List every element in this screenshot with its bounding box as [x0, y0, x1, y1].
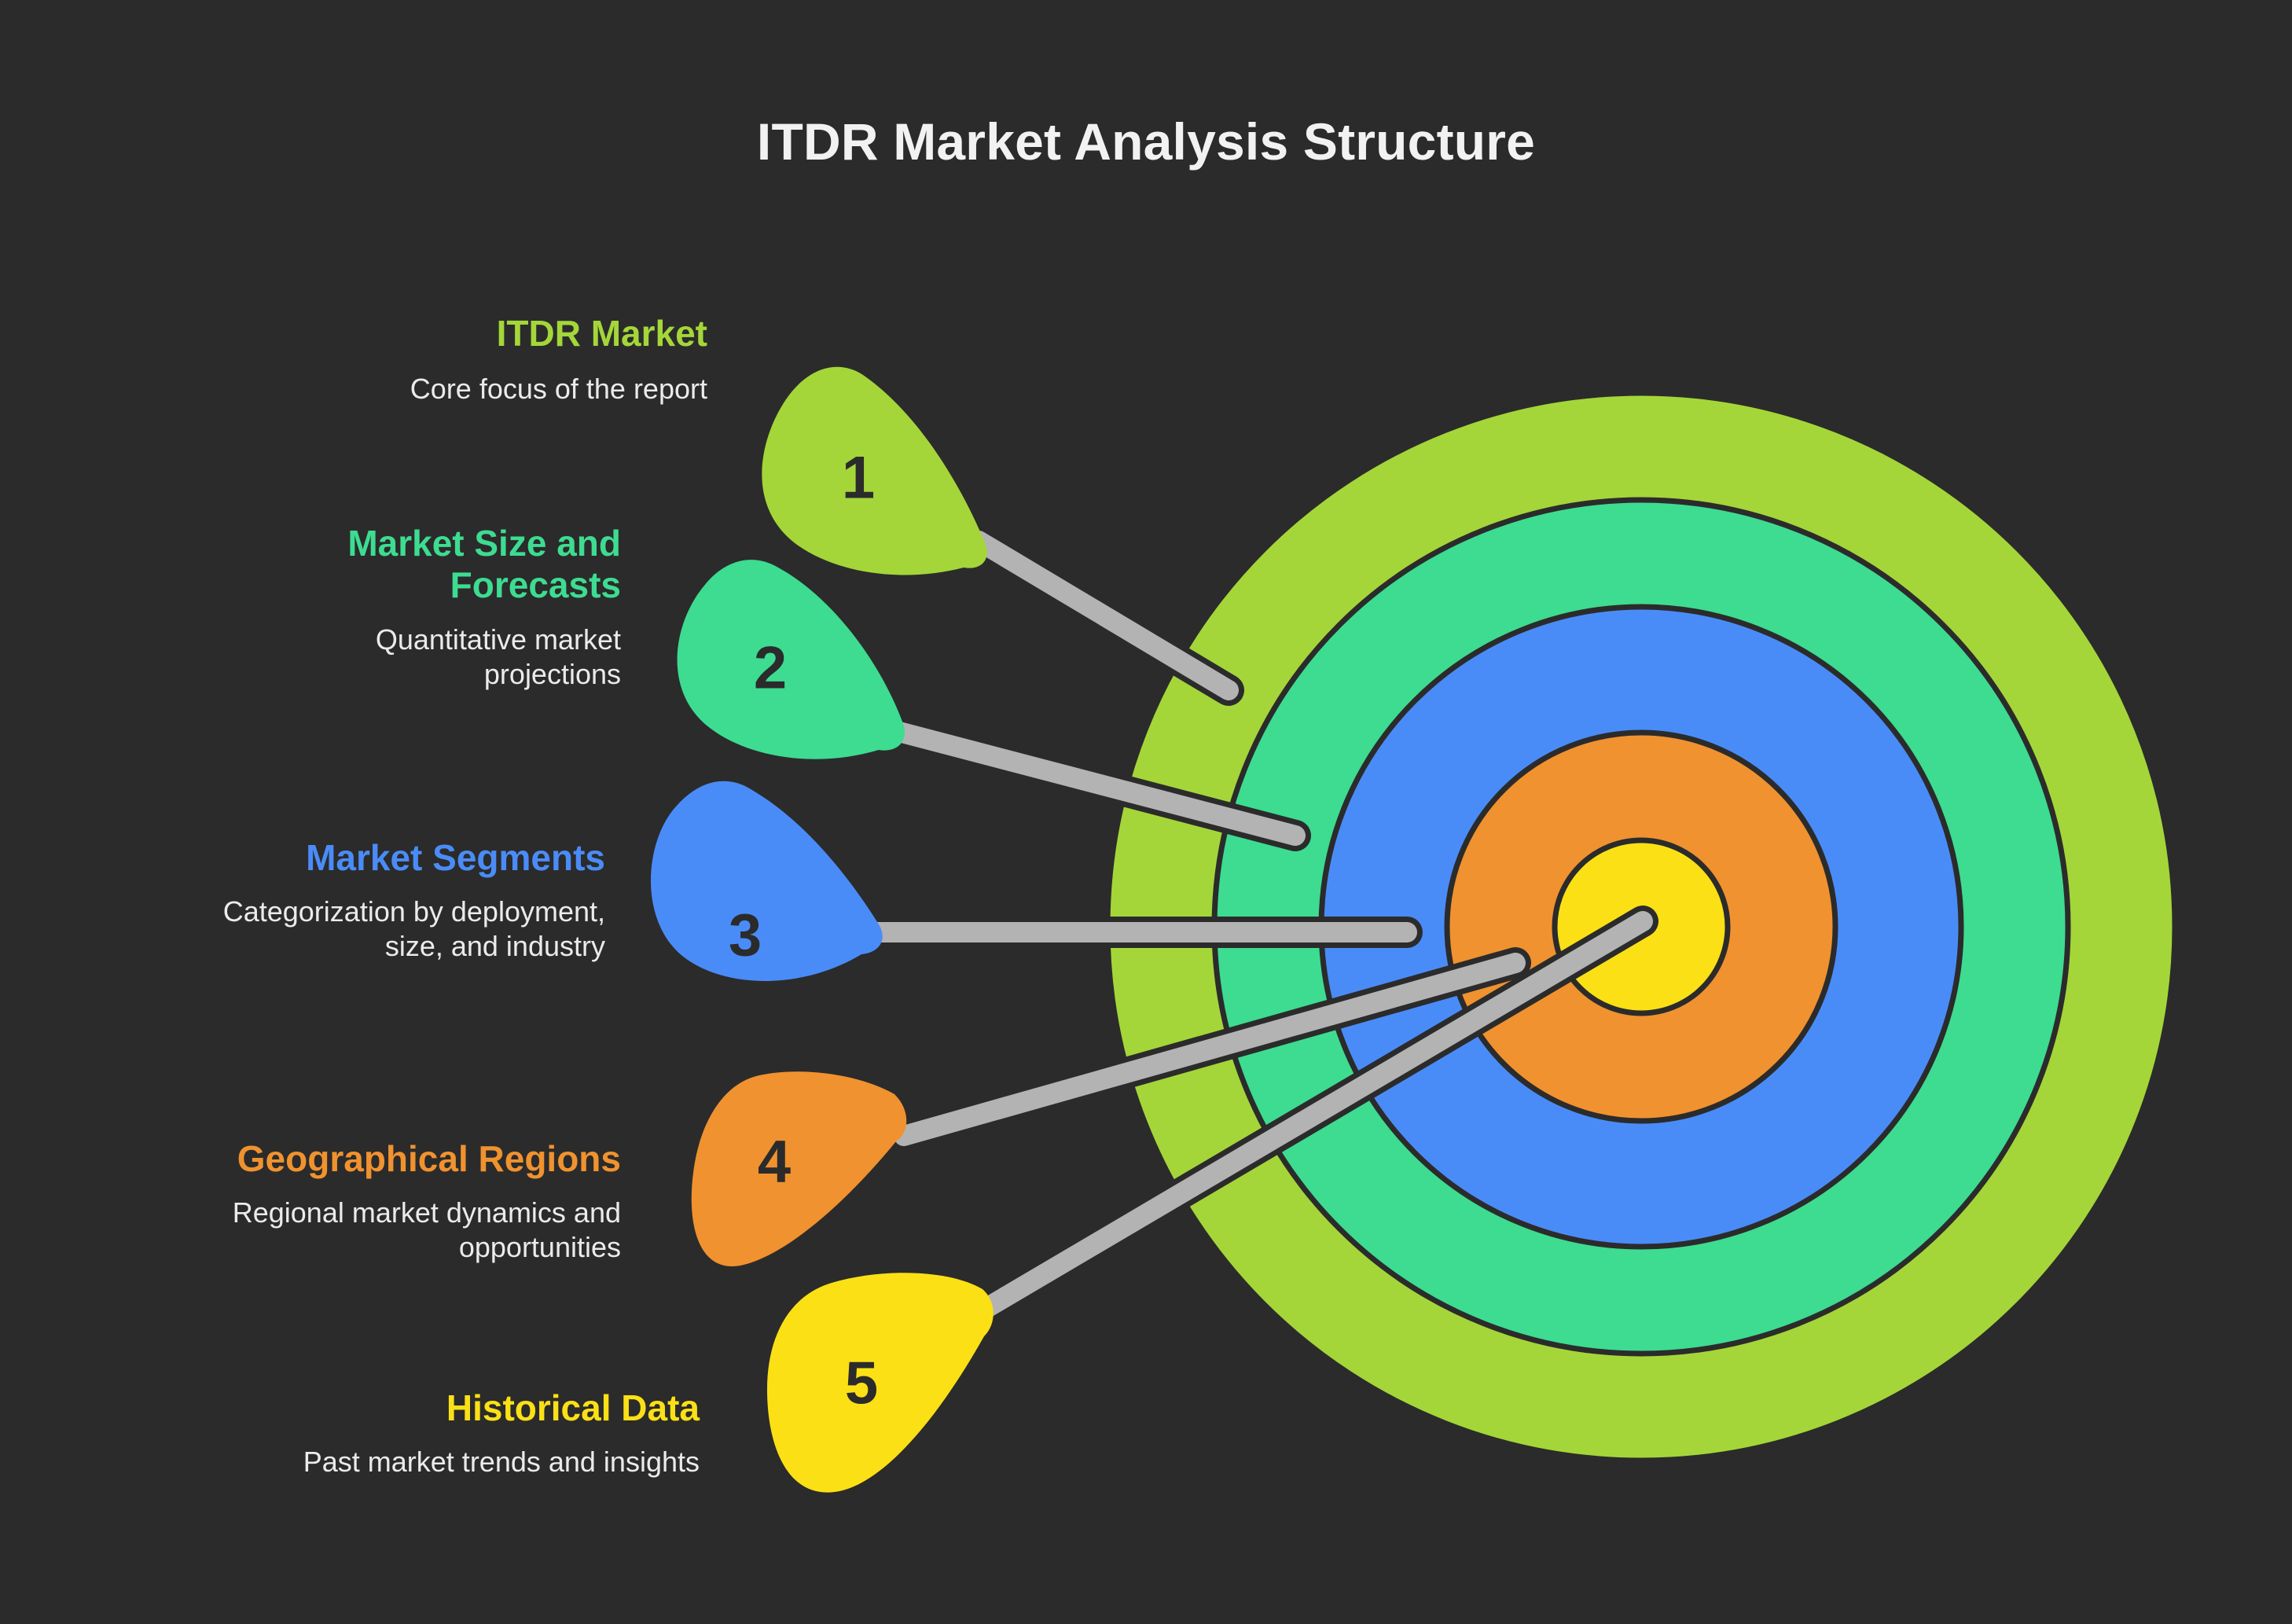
marker-1-number: 1: [842, 445, 875, 512]
label-desc-1: Core focus of the report: [236, 372, 707, 406]
marker-2[interactable]: 2: [678, 560, 905, 759]
label-block-3: Market Segments Categorization by deploy…: [197, 837, 605, 964]
marker-5-number: 5: [845, 1350, 878, 1417]
marker-3-shape: [651, 781, 883, 981]
marker-5-shape: [767, 1273, 994, 1492]
marker-4-shape: [692, 1071, 906, 1266]
marker-5[interactable]: 5: [767, 1273, 994, 1492]
label-desc-4: Regional market dynamics and opportuniti…: [141, 1196, 621, 1265]
label-title-1: ITDR Market: [236, 313, 707, 355]
label-title-4: Geographical Regions: [141, 1138, 621, 1180]
marker-4[interactable]: 4: [692, 1071, 906, 1266]
label-desc-3: Categorization by deployment, size, and …: [197, 895, 605, 964]
label-block-1: ITDR Market Core focus of the report: [236, 313, 707, 406]
label-desc-5: Past market trends and insights: [259, 1445, 700, 1479]
marker-1[interactable]: 1: [762, 367, 986, 575]
label-block-2: Market Size and Forecasts Quantitative m…: [252, 523, 621, 692]
marker-3[interactable]: 3: [651, 781, 883, 981]
marker-3-number: 3: [729, 902, 762, 969]
bullseye-diagram: 1 2 3 4 5: [0, 0, 2292, 1624]
label-title-5: Historical Data: [259, 1387, 700, 1429]
connector-line-1: [979, 541, 1229, 690]
label-block-5: Historical Data Past market trends and i…: [259, 1387, 700, 1479]
label-title-3: Market Segments: [197, 837, 605, 879]
marker-2-shape: [678, 560, 905, 759]
label-desc-2: Quantitative market projections: [252, 623, 621, 692]
marker-4-number: 4: [758, 1129, 791, 1196]
infographic-canvas: ITDR Market Analysis Structure: [0, 0, 2292, 1624]
label-block-4: Geographical Regions Regional market dyn…: [141, 1138, 621, 1265]
label-title-2: Market Size and Forecasts: [252, 523, 621, 607]
marker-2-number: 2: [754, 635, 787, 702]
